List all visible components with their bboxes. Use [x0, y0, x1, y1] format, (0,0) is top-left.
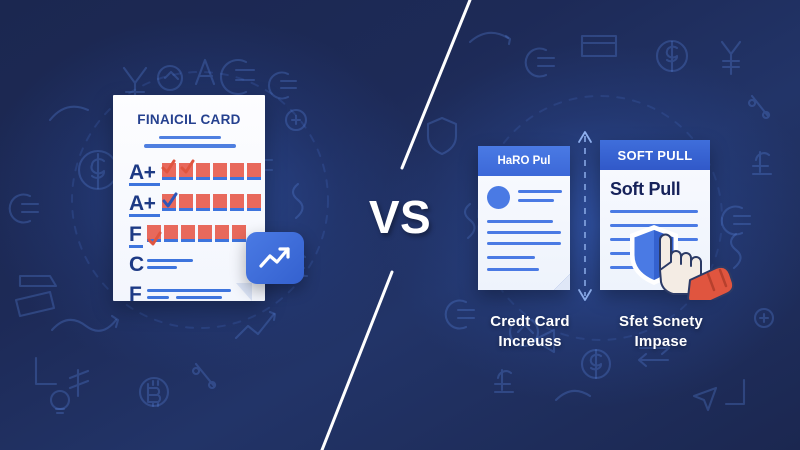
- soft-pull-caption: Sfet Scnety Impase: [596, 312, 726, 352]
- versus-label: VS: [360, 187, 440, 247]
- doc-line: [487, 268, 539, 271]
- grade-line: [147, 266, 177, 269]
- grade-boxes: [147, 225, 246, 242]
- grade-box: [215, 225, 229, 242]
- financial-card-title: FINAICIL CARD: [113, 112, 265, 127]
- doc-line: [487, 256, 535, 259]
- grade-box: [162, 194, 176, 211]
- grade-boxes: [162, 194, 261, 211]
- grade-letter: A+: [129, 163, 160, 186]
- doc-line: [610, 210, 698, 213]
- hard-pull-header: HaRO Pul: [478, 146, 570, 176]
- grade-line: [147, 296, 169, 299]
- doc-corner-fold: [554, 274, 570, 290]
- caption-line-2: Increuss: [470, 332, 590, 352]
- avatar: [487, 186, 510, 209]
- soft-pull-header: SOFT PULL: [600, 140, 710, 170]
- doc-line: [487, 242, 561, 245]
- caption-line-1: Sfet Scnety: [596, 312, 726, 332]
- card-corner-fold: [236, 283, 252, 301]
- doc-line: [518, 190, 562, 193]
- hard-pull-caption: Credt Card Increuss: [470, 312, 590, 352]
- grade-line: [176, 296, 222, 299]
- grade-row: A+: [129, 194, 261, 217]
- grade-line: [147, 259, 193, 262]
- grade-row: F: [129, 225, 246, 248]
- grade-box: [179, 194, 193, 211]
- infographic-canvas: VS FINAICIL CARD A+ A+: [0, 0, 800, 450]
- soft-pull-body-title: Soft Pull: [610, 179, 680, 200]
- grade-box: [181, 225, 195, 242]
- grade-letter: F: [129, 225, 143, 248]
- doc-line: [487, 231, 561, 234]
- grade-box: [213, 194, 227, 211]
- doc-line: [518, 199, 554, 202]
- grade-line: [147, 289, 231, 292]
- grade-letter: A+: [129, 194, 160, 217]
- grade-box: [213, 163, 227, 180]
- grade-boxes: [162, 163, 261, 180]
- hard-pull-document: HaRO Pul: [478, 146, 570, 290]
- grade-box: [247, 194, 261, 211]
- grade-box: [198, 225, 212, 242]
- grade-box: [196, 194, 210, 211]
- title-underline-long: [144, 144, 236, 148]
- title-underline-short: [159, 136, 221, 139]
- grade-box: [232, 225, 246, 242]
- grade-box: [164, 225, 178, 242]
- dashed-vertical-double-arrow-icon: [572, 126, 598, 306]
- grade-row: A+: [129, 163, 261, 186]
- financial-card: FINAICIL CARD A+ A+: [113, 95, 265, 301]
- grade-lines: [147, 285, 231, 299]
- grade-box: [230, 194, 244, 211]
- grade-box: [162, 163, 176, 180]
- grade-box: [247, 163, 261, 180]
- grade-box: [230, 163, 244, 180]
- caption-line-2: Impase: [596, 332, 726, 352]
- grade-row: C: [129, 255, 193, 275]
- caption-line-1: Credt Card: [470, 312, 590, 332]
- grade-box: [147, 225, 161, 242]
- grade-box: [179, 163, 193, 180]
- pointing-hand-cursor-icon: [650, 228, 742, 300]
- grade-row: F: [129, 285, 231, 305]
- trending-up-arrow-icon: [246, 232, 304, 284]
- doc-line: [487, 220, 553, 223]
- grade-lines: [147, 255, 193, 269]
- hard-pull-body: [478, 176, 570, 290]
- grade-box: [196, 163, 210, 180]
- grade-letter: C: [129, 255, 143, 275]
- grade-letter: F: [129, 285, 143, 305]
